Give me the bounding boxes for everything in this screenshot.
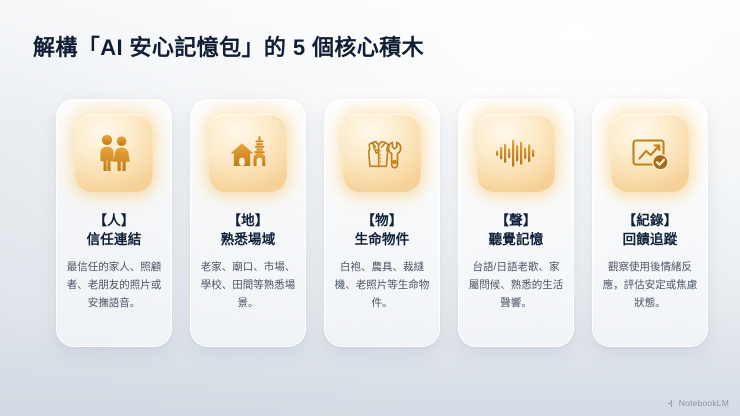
feature-card-sound[interactable]: 【聲】 聽覺記憶 台語/日語老歌、家屬問候、熟悉的生活聲響。: [458, 99, 574, 347]
card-bracket-label: 【人】: [87, 211, 142, 230]
card-description: 最信任的家人、照顧者、老朋友的照片或安撫語音。: [65, 258, 163, 312]
card-name-label: 生命物件: [355, 230, 410, 249]
card-title: 【地】 熟悉場域: [221, 211, 276, 249]
card-title: 【物】 生命物件: [355, 211, 410, 249]
card-name-label: 聽覺記憶: [489, 230, 544, 249]
chart-check-icon: [611, 114, 689, 192]
card-name-label: 信任連結: [87, 230, 142, 249]
two-people-icon: [75, 114, 153, 192]
card-name-label: 回饋追蹤: [623, 230, 678, 249]
card-bracket-label: 【聲】: [489, 211, 544, 230]
card-title: 【聲】 聽覺記憶: [489, 211, 544, 249]
card-bracket-label: 【紀錄】: [623, 211, 678, 230]
card-description: 白袍、農具、裁縫機、老照片等生命物件。: [333, 258, 431, 312]
card-name-label: 熟悉場域: [221, 230, 276, 249]
feature-card-row: 【人】 信任連結 最信任的家人、照顧者、老朋友的照片或安撫語音。: [56, 99, 716, 347]
card-bracket-label: 【物】: [355, 211, 410, 230]
house-temple-icon: [209, 114, 287, 192]
feature-card-object[interactable]: 【物】 生命物件 白袍、農具、裁縫機、老照片等生命物件。: [324, 99, 440, 347]
card-description: 觀察使用後情緒反應，評估安定或焦慮狀態。: [601, 258, 699, 312]
feature-card-place[interactable]: 【地】 熟悉場域 老家、廟口、市場、學校、田間等熟悉場景。: [190, 99, 306, 347]
labcoat-wrench-icon: [343, 114, 421, 192]
sound-waveform-icon: [477, 114, 555, 192]
card-description: 台語/日語老歌、家屬問候、熟悉的生活聲響。: [467, 258, 565, 312]
footer-brand-label: NotebookLM: [679, 398, 729, 408]
feature-card-record[interactable]: 【紀錄】 回饋追蹤 觀察使用後情緒反應，評估安定或焦慮狀態。: [592, 99, 708, 347]
card-title: 【紀錄】 回饋追蹤: [623, 211, 678, 249]
feature-card-person[interactable]: 【人】 信任連結 最信任的家人、照顧者、老朋友的照片或安撫語音。: [56, 99, 172, 347]
page-title: 解構「AI 安心記憶包」的 5 個核心積木: [33, 30, 424, 62]
card-bracket-label: 【地】: [221, 211, 276, 230]
card-description: 老家、廟口、市場、學校、田間等熟悉場景。: [199, 258, 297, 312]
notebooklm-logo-icon: [667, 399, 676, 408]
footer-brand: NotebookLM: [667, 398, 729, 408]
card-title: 【人】 信任連結: [87, 211, 142, 249]
